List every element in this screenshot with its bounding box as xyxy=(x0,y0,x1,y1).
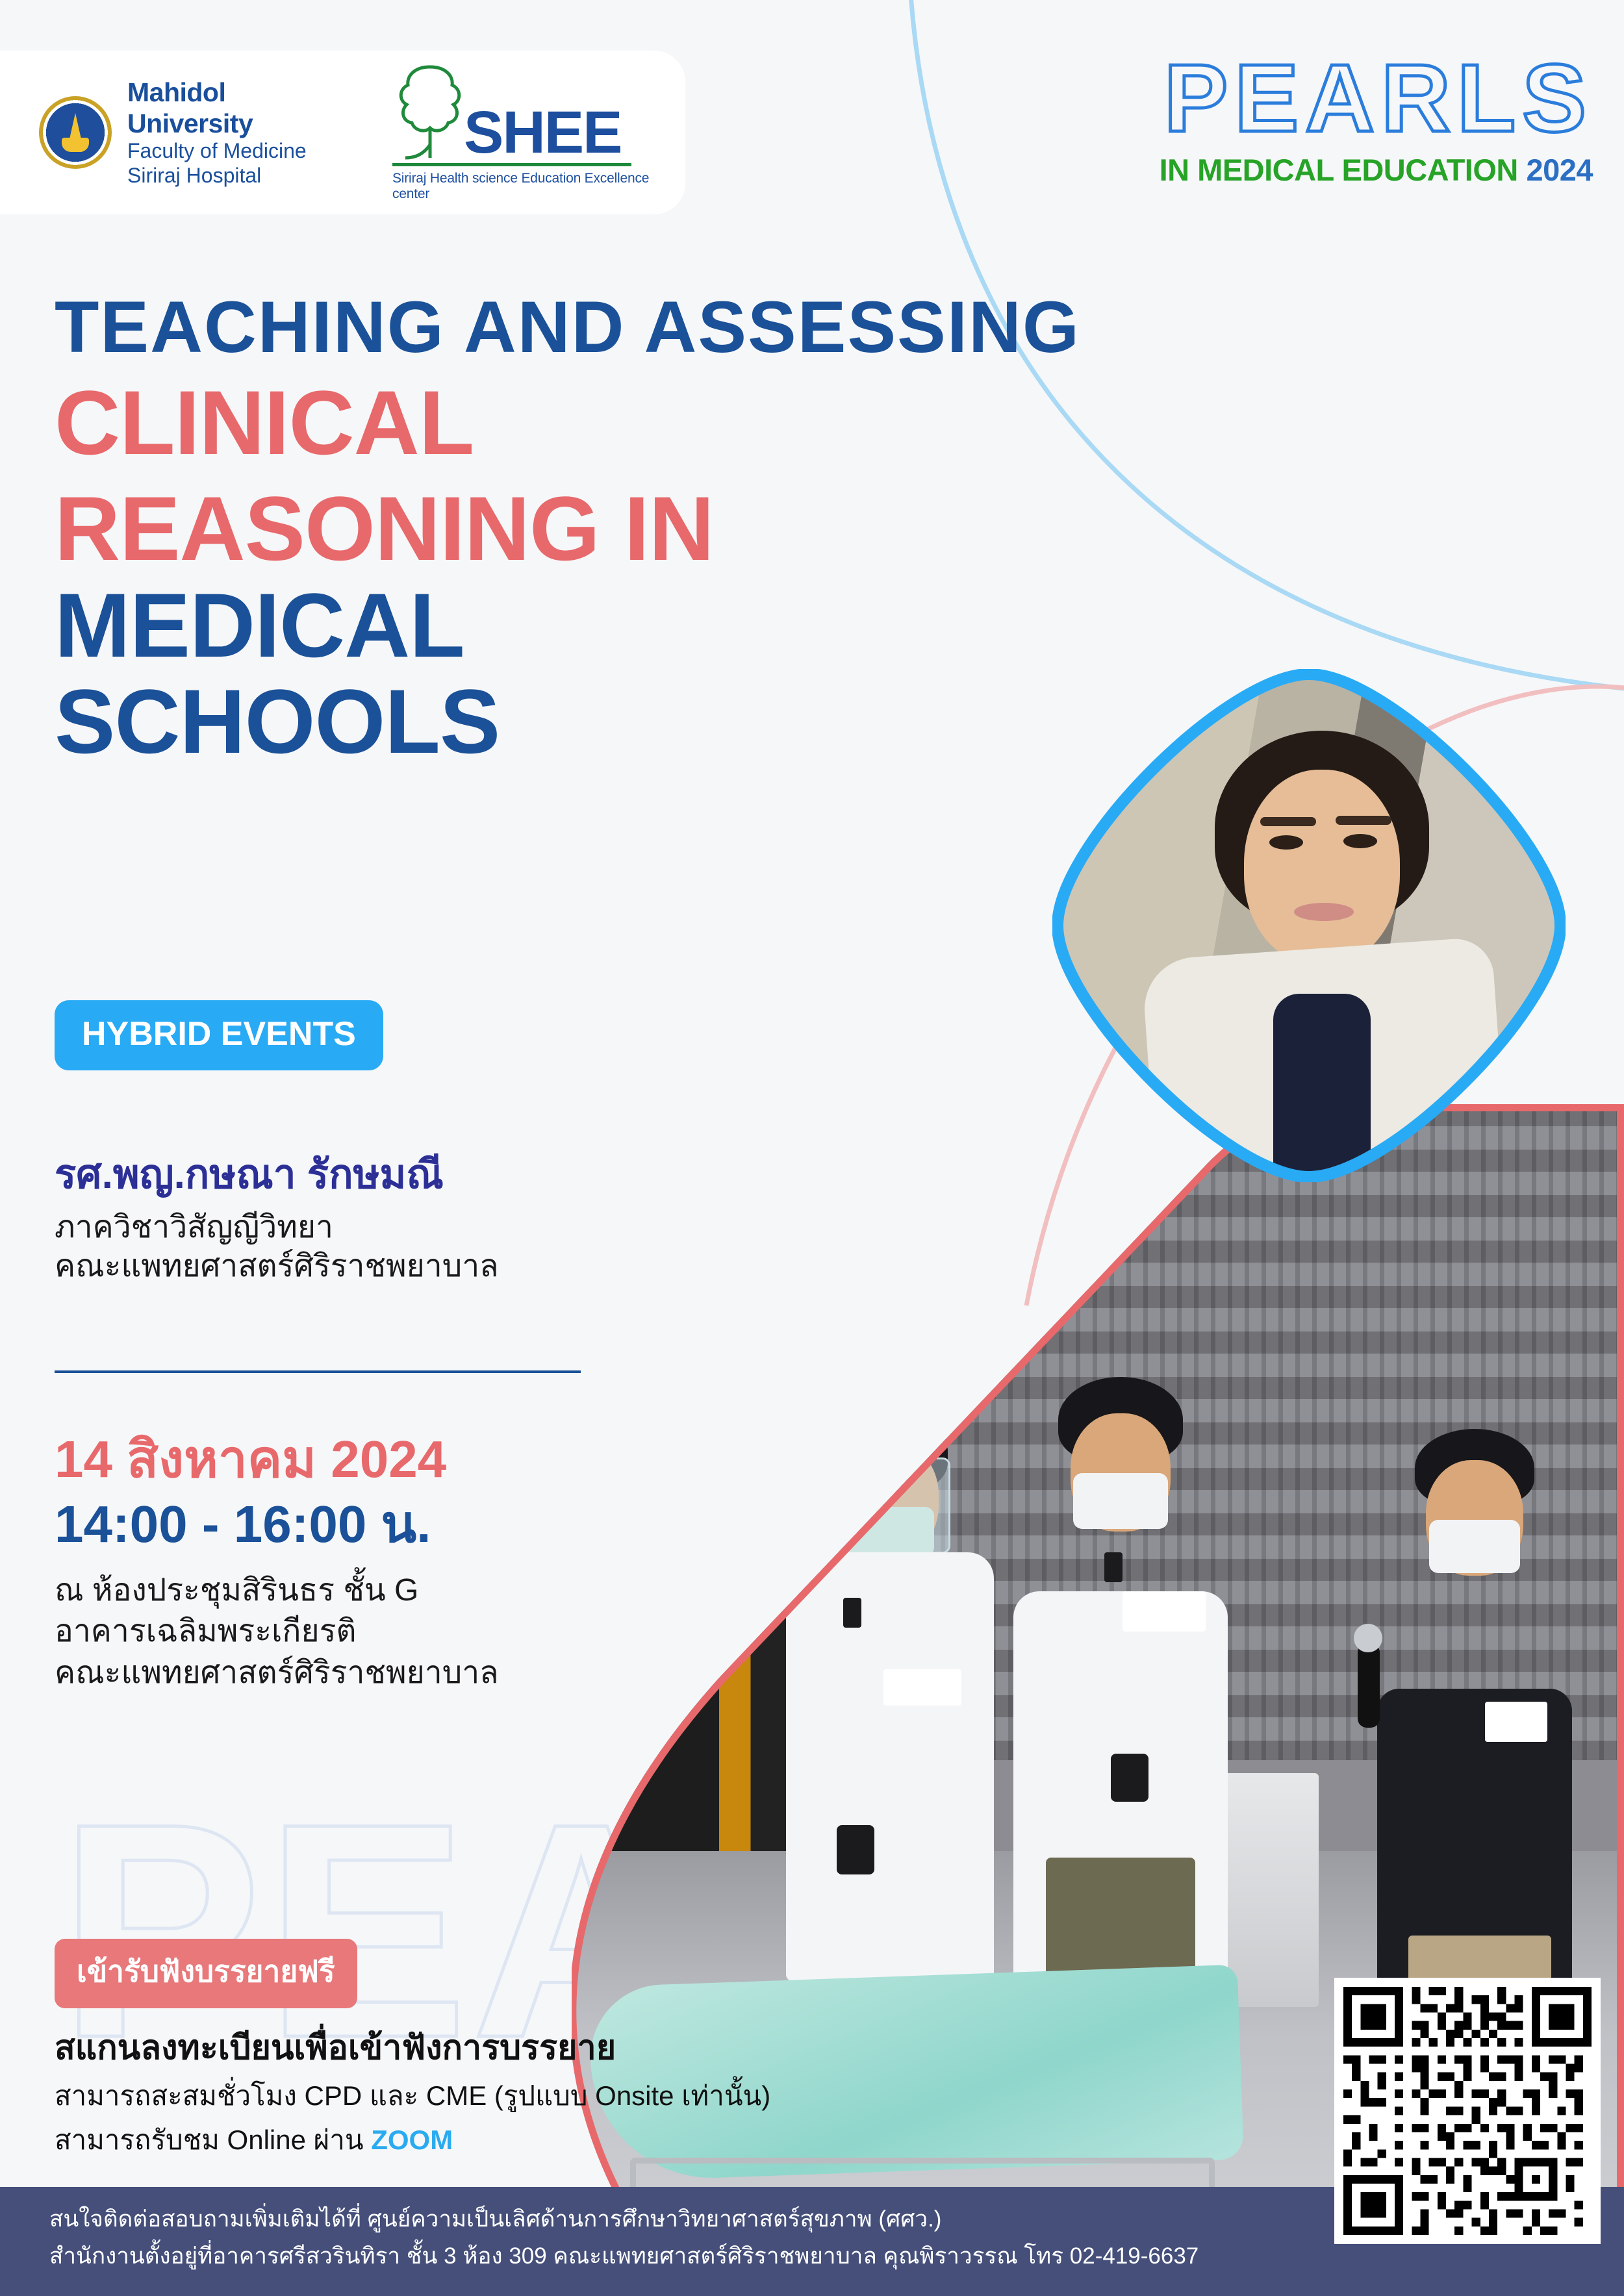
speaker-department: ภาควิชาวิสัญญีวิทยา xyxy=(55,1208,499,1247)
shee-tree-icon xyxy=(392,63,469,160)
mahidol-line3: Siriraj Hospital xyxy=(127,164,353,188)
event-venue-line1: ณ ห้องประชุมสิรินธร ชั้น G xyxy=(55,1570,499,1611)
mahidol-logo: Mahidol University Faculty of Medicine S… xyxy=(39,77,353,187)
mahidol-seal-icon xyxy=(39,96,112,169)
free-admission-badge: เข้ารับฟังบรรยายฟรี xyxy=(55,1939,357,2008)
event-venue-line3: คณะแพทยศาสตร์ศิริราชพยาบาล xyxy=(55,1652,499,1693)
registration-headline: สแกนลงทะเบียนเพื่อเข้าฟังการบรรยาย xyxy=(55,2026,770,2071)
event-time: 14:00 - 16:00 น. xyxy=(55,1494,499,1555)
pearls-brand-block: PEARLS IN MEDICAL EDUCATION 2024 xyxy=(1160,51,1593,188)
section-divider xyxy=(55,1370,581,1373)
title-line-clinical: CLINICAL xyxy=(55,377,1080,470)
event-details: 14 สิงหาคม 2024 14:00 - 16:00 น. ณ ห้องป… xyxy=(55,1429,499,1693)
institution-logo-card: Mahidol University Faculty of Medicine S… xyxy=(0,51,685,214)
event-venue-line2: อาคารเฉลิมพระเกียรติ xyxy=(55,1611,499,1652)
title-line-reasoning: REASONING IN xyxy=(55,483,1080,575)
pearls-subtitle: IN MEDICAL EDUCATION xyxy=(1160,153,1518,187)
page-title: TEACHING AND ASSESSING CLINICAL REASONIN… xyxy=(55,291,1080,768)
speaker-name: รศ.พญ.กษณา รักษมณี xyxy=(55,1151,499,1199)
shee-logo: SHEE Siriraj Health science Education Ex… xyxy=(392,63,685,202)
registration-info: สแกนลงทะเบียนเพื่อเข้าฟังการบรรยาย สามาร… xyxy=(55,2026,770,2160)
shee-acronym: SHEE xyxy=(464,105,622,160)
title-line-teaching: TEACHING AND ASSESSING xyxy=(55,291,1080,364)
qr-code-icon[interactable] xyxy=(1343,1987,1592,2235)
speaker-info: รศ.พญ.กษณา รักษมณี ภาควิชาวิสัญญีวิทยา ค… xyxy=(55,1151,499,1286)
title-line-schools: SCHOOLS xyxy=(55,675,1080,768)
portrait-ring xyxy=(1052,669,1566,1182)
pearls-year: 2024 xyxy=(1526,153,1593,187)
hybrid-events-badge: HYBRID EVENTS xyxy=(55,1000,383,1070)
registration-online-prefix: สามารถรับชม Online ผ่าน xyxy=(55,2125,371,2155)
speaker-faculty: คณะแพทยศาสตร์ศิริราชพยาบาล xyxy=(55,1247,499,1286)
mahidol-line2: Faculty of Medicine xyxy=(127,139,353,163)
registration-qr-code[interactable] xyxy=(1334,1978,1601,2244)
shee-divider xyxy=(392,163,631,166)
pearls-wordmark: PEARLS xyxy=(1160,51,1593,147)
title-line-medical: MEDICAL xyxy=(55,579,1080,672)
zoom-platform-link[interactable]: ZOOM xyxy=(371,2125,453,2155)
event-date: 14 สิงหาคม 2024 xyxy=(55,1429,499,1490)
registration-credit-note: สามารถสะสมชั่วโมง CPD และ CME (รูปแบบ On… xyxy=(55,2077,770,2115)
shee-subtitle: Siriraj Health science Education Excelle… xyxy=(392,171,685,202)
mahidol-line1: Mahidol University xyxy=(127,77,353,139)
speaker-portrait-photo xyxy=(1052,669,1566,1182)
